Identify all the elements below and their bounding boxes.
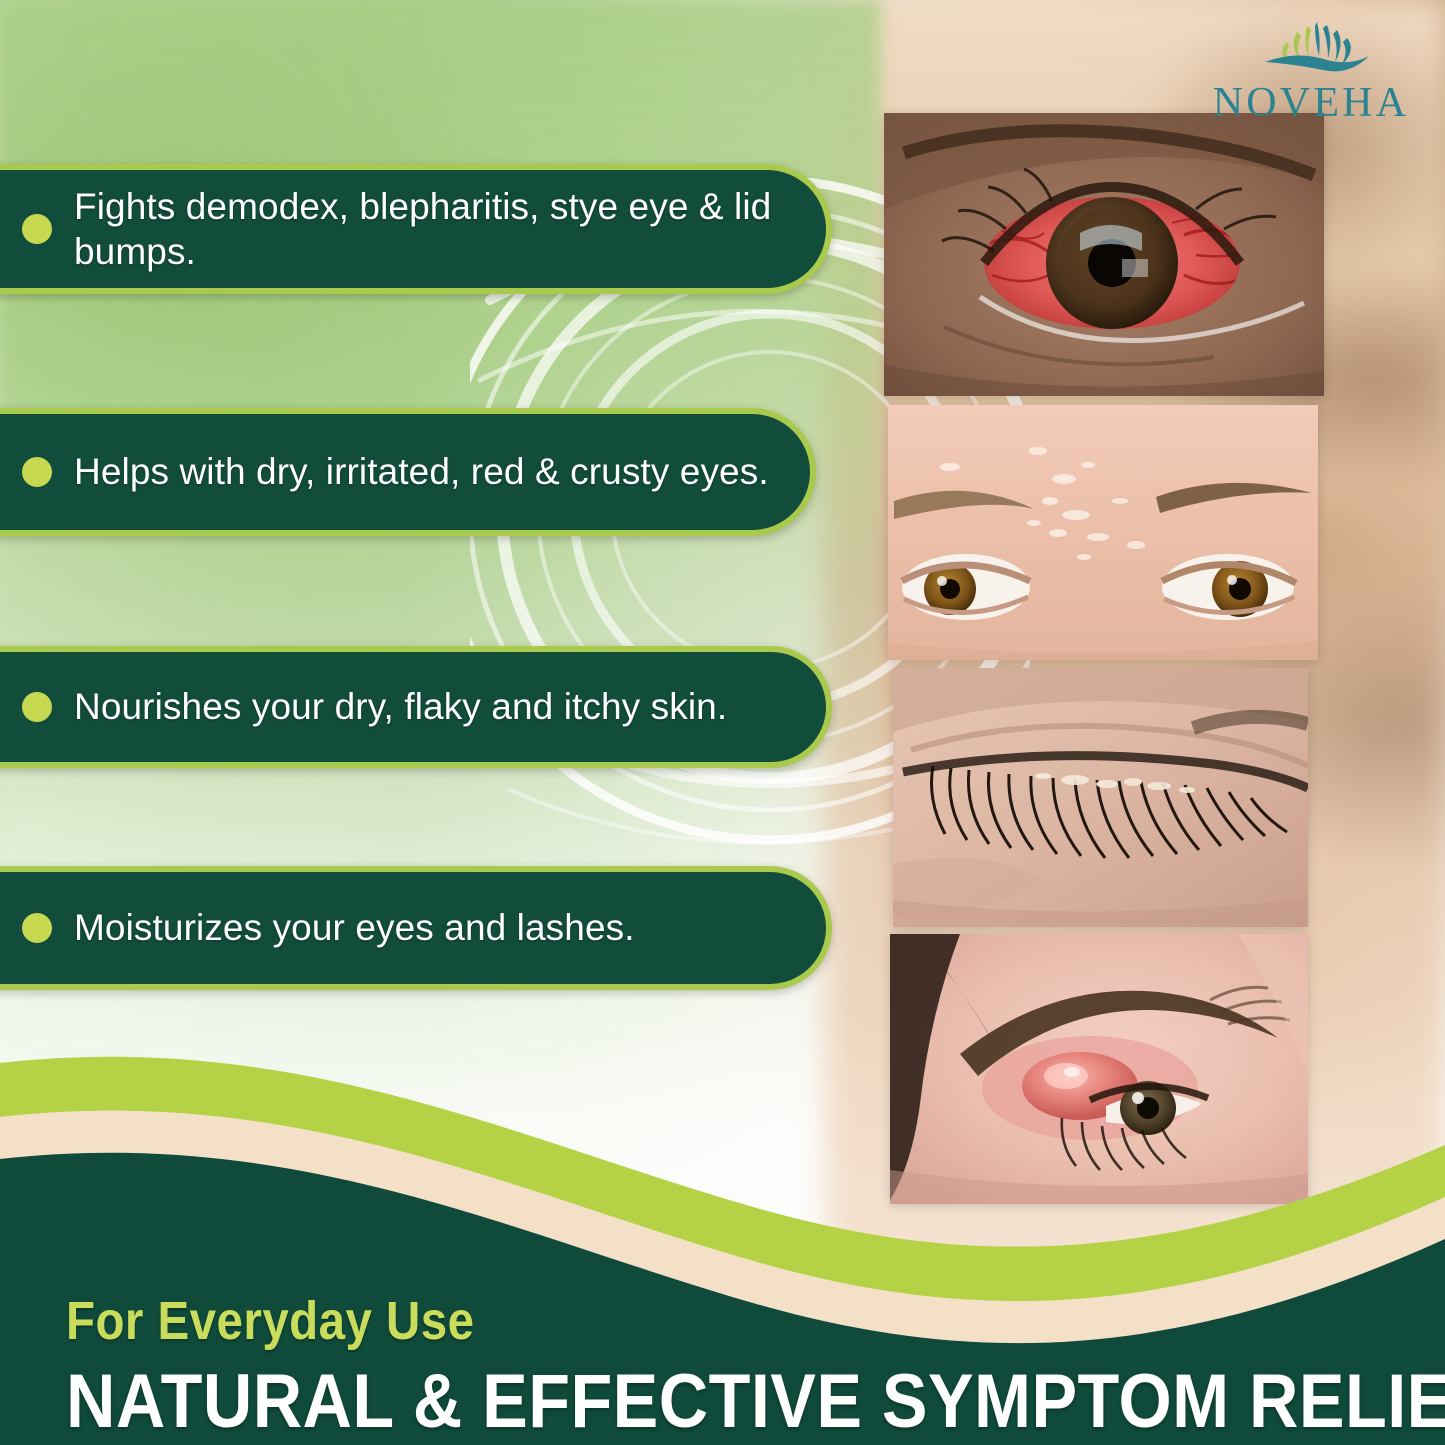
- benefit-pill-1: Fights demodex, blepharitis, stye eye & …: [0, 164, 832, 294]
- banner-kicker: For Everyday Use: [66, 1290, 1245, 1352]
- benefit-pill-2: Helps with dry, irritated, red & crusty …: [0, 408, 816, 536]
- benefit-text-1: Fights demodex, blepharitis, stye eye & …: [74, 184, 826, 274]
- bullet-dot-icon: [22, 913, 52, 943]
- banner-headline: NATURAL & EFFECTIVE SYMPTOM RELIEF: [66, 1358, 1272, 1445]
- benefit-pill-3: Nourishes your dry, flaky and itchy skin…: [0, 646, 832, 768]
- banner-text-block: For Everyday Use NATURAL & EFFECTIVE SYM…: [66, 1290, 1406, 1445]
- symptom-photo-crusty-lashes: [893, 668, 1308, 927]
- leaf-fan-icon: [1231, 16, 1391, 78]
- symptom-photo-flaky-skin: [888, 405, 1318, 660]
- bullet-dot-icon: [22, 214, 52, 244]
- brand-name: NOVEHA: [1211, 79, 1411, 127]
- brand-logo: NOVEHA: [1211, 16, 1411, 127]
- bullet-dot-icon: [22, 692, 52, 722]
- bullet-dot-icon: [22, 457, 52, 487]
- benefit-text-2: Helps with dry, irritated, red & crusty …: [74, 449, 809, 494]
- benefit-pill-4: Moisturizes your eyes and lashes.: [0, 866, 832, 990]
- poster-root: Fights demodex, blepharitis, stye eye & …: [0, 0, 1445, 1445]
- benefit-text-4: Moisturizes your eyes and lashes.: [74, 905, 675, 950]
- symptom-photo-red-eye: [884, 113, 1324, 396]
- benefit-text-3: Nourishes your dry, flaky and itchy skin…: [74, 684, 767, 729]
